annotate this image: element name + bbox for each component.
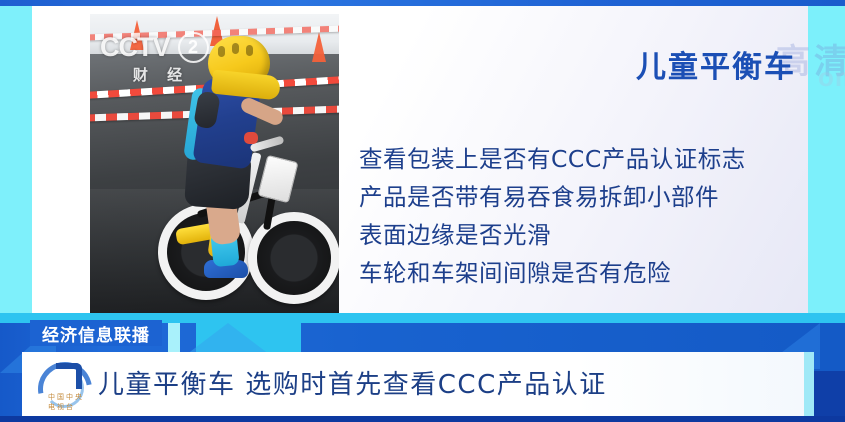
bike-front-wheel: [248, 212, 339, 304]
news-photo: CCTV 2 财 经: [90, 14, 339, 313]
list-item: 车轮和车架间间隙是否有危险: [359, 254, 746, 292]
bottom-rail: [0, 416, 845, 422]
emblem-caption: 中国中央电视台: [48, 392, 88, 412]
list-item: 查看包装上是否有CCC产品认证标志: [359, 140, 746, 178]
broadcast-screen: CCTV 2 财 经 高清 om 儿童平衡车 查看包装上是否有CCC产品认证标志…: [0, 0, 845, 422]
program-name-tab: 经济信息联播: [30, 320, 162, 346]
site-watermark: om: [818, 62, 845, 93]
list-item: 产品是否带有易吞食易拆卸小部件: [359, 178, 746, 216]
tips-list: 查看包装上是否有CCC产品认证标志 产品是否带有易吞食易拆卸小部件 表面边缘是否…: [359, 140, 746, 292]
cctv-logo-watermark: CCTV 2 财 经: [100, 32, 260, 94]
cctv-logo-row: CCTV 2: [100, 32, 260, 63]
top-rail: [0, 0, 845, 6]
content-panel: CCTV 2 财 经 高清 om 儿童平衡车 查看包装上是否有CCC产品认证标志…: [32, 6, 808, 313]
program-name-label: 经济信息联播: [42, 321, 150, 346]
emblem-hook-shape: [56, 363, 82, 389]
list-item: 表面边缘是否光滑: [359, 216, 746, 254]
cctv-channel-subtitle: 财 经: [100, 64, 222, 85]
page-title: 儿童平衡车: [636, 42, 796, 86]
cctv-emblem-icon: 中国中央电视台: [34, 358, 88, 412]
news-headline-text: 儿童平衡车 选购时首先查看CCC产品认证: [98, 364, 607, 401]
news-headline-bar: 中国中央电视台 儿童平衡车 选购时首先查看CCC产品认证: [22, 352, 814, 418]
cctv-wordmark: CCTV: [100, 32, 170, 63]
traffic-cone: [312, 32, 326, 62]
cctv-channel-number: 2: [178, 32, 209, 63]
news-bar-accent: [804, 352, 814, 418]
left-cyan-strip: [0, 6, 32, 313]
bike-number-plate: [257, 155, 298, 203]
bike-grip: [244, 132, 258, 144]
